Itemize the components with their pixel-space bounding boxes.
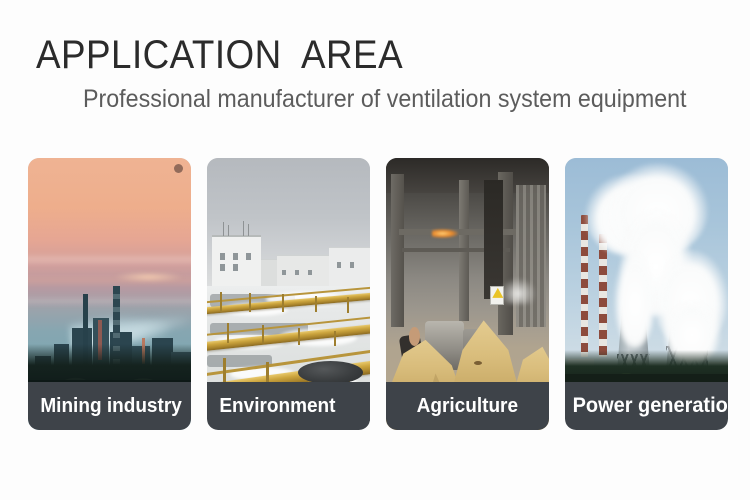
card-label-bar: Environment xyxy=(207,382,370,430)
card-label-text: Power generation xyxy=(565,394,728,418)
page-subtitle: Professional manufacturer of ventilation… xyxy=(83,84,687,114)
card-label-bar: Agriculture xyxy=(386,382,549,430)
application-card-grid: Mining industry xyxy=(28,158,722,430)
watermark-icon xyxy=(174,164,183,173)
card-label-bar: Mining industry xyxy=(28,382,191,430)
application-card-mining-industry[interactable]: Mining industry xyxy=(28,158,191,430)
banner-header: APPLICATION AREA Professional manufactur… xyxy=(0,0,750,140)
application-card-power-generation[interactable]: Power generation xyxy=(565,158,728,430)
application-card-agriculture[interactable]: Agriculture xyxy=(386,158,549,430)
card-label-text: Mining industry xyxy=(28,395,182,418)
card-label-bar: Power generation xyxy=(565,382,728,430)
application-card-environment[interactable]: Environment xyxy=(207,158,370,430)
page-title: APPLICATION AREA xyxy=(36,32,403,78)
card-label-text: Environment xyxy=(207,395,335,418)
application-area-banner: APPLICATION AREA Professional manufactur… xyxy=(0,0,750,500)
card-label-text: Agriculture xyxy=(417,395,518,418)
